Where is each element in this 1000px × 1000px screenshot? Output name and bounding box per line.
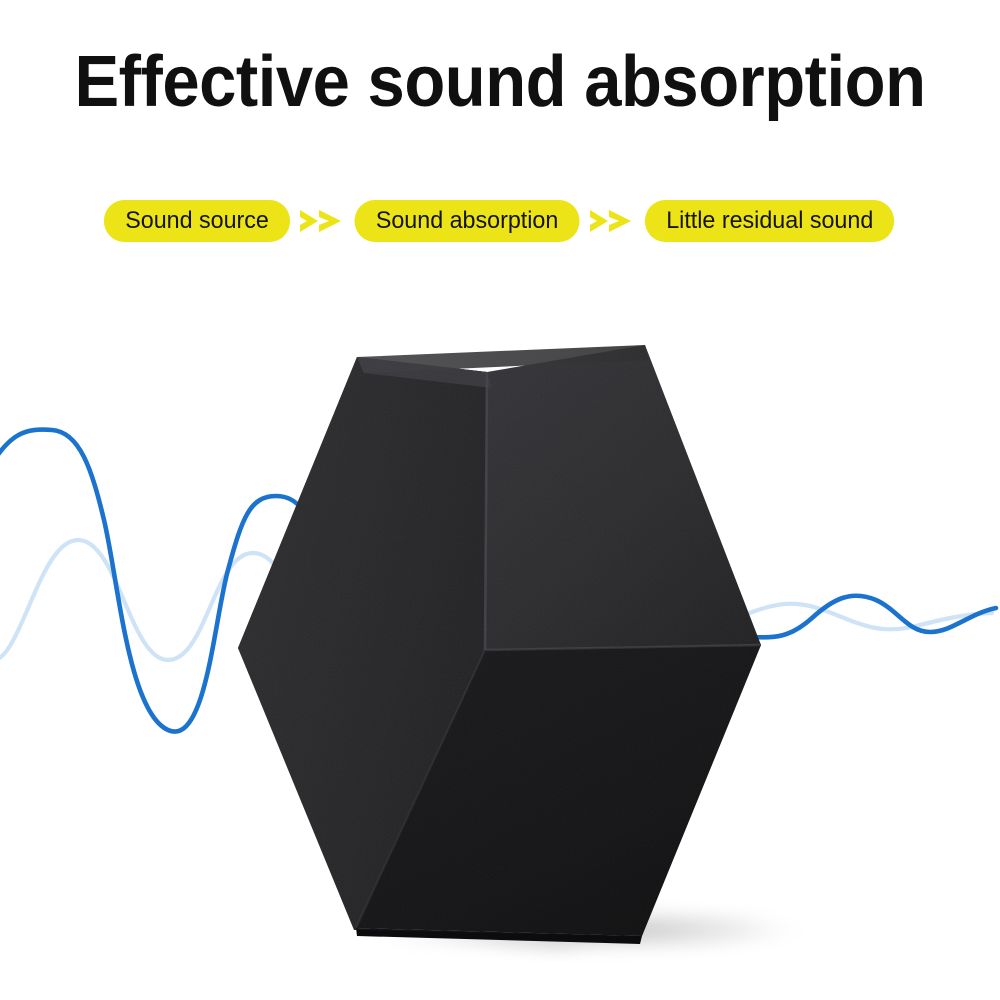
hexagonal-acoustic-panel	[0, 0, 1000, 1000]
panel-body	[230, 340, 770, 950]
product-feature-graphic: Effective sound absorption Sound source …	[0, 0, 1000, 1000]
